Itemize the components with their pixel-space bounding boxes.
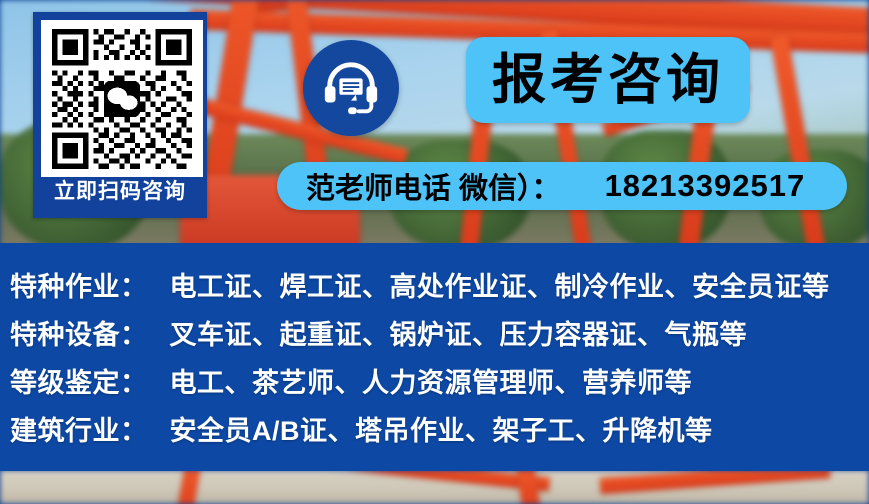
category-label: 建筑行业： bbox=[10, 409, 148, 448]
category-value: 电工、茶艺师、人力资源管理师、营养师等 bbox=[170, 361, 693, 400]
qr-caption: 立即扫码咨询 bbox=[37, 172, 203, 212]
promo-poster: 立即扫码咨询 报考咨询 范老师电话 微信）： 18213392517 特种作业：… bbox=[0, 0, 869, 504]
category-value: 电工证、焊工证、高处作业证、制冷作业、安全员证等 bbox=[170, 265, 830, 304]
phone-number[interactable]: 18213392517 bbox=[605, 168, 806, 204]
category-row: 建筑行业： 安全员A/B证、塔吊作业、架子工、升降机等 bbox=[10, 409, 713, 448]
background-photo-bottom bbox=[0, 470, 869, 504]
category-label: 特种设备： bbox=[10, 313, 148, 352]
category-row: 等级鉴定： 电工、茶艺师、人力资源管理师、营养师等 bbox=[10, 361, 692, 400]
phone-contact-badge[interactable]: 范老师电话 微信）： 18213392517 bbox=[277, 162, 847, 210]
qr-code-panel[interactable]: 立即扫码咨询 bbox=[33, 12, 207, 218]
category-row: 特种设备： 叉车证、起重证、锅炉证、压力容器证、气瓶等 bbox=[10, 313, 747, 352]
category-label: 特种作业： bbox=[10, 265, 148, 304]
phone-label: 范老师电话 微信）： bbox=[306, 165, 561, 207]
headset-support-icon bbox=[303, 40, 399, 136]
category-label: 等级鉴定： bbox=[10, 361, 148, 400]
consultation-title-badge[interactable]: 报考咨询 bbox=[466, 37, 750, 123]
category-value: 安全员A/B证、塔吊作业、架子工、升降机等 bbox=[170, 409, 713, 448]
category-row: 特种作业： 电工证、焊工证、高处作业证、制冷作业、安全员证等 bbox=[10, 265, 830, 304]
consultation-title-text: 报考咨询 bbox=[492, 53, 724, 107]
category-info-panel: 特种作业： 电工证、焊工证、高处作业证、制冷作业、安全员证等 特种设备： 叉车证… bbox=[0, 243, 869, 471]
category-value: 叉车证、起重证、锅炉证、压力容器证、气瓶等 bbox=[170, 313, 748, 352]
qr-code-image[interactable] bbox=[41, 20, 203, 177]
